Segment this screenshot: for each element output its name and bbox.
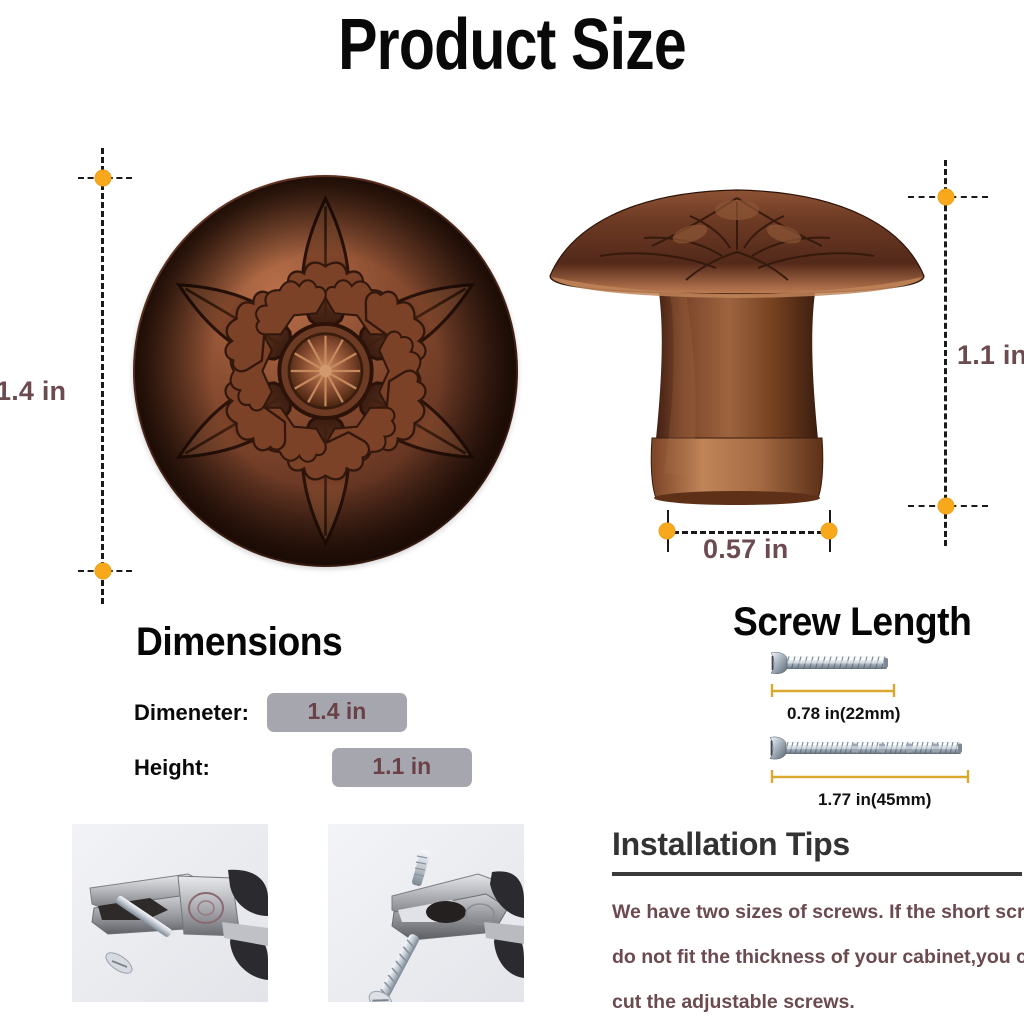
diameter-dimension-label: 1.4 in: [0, 376, 66, 407]
dimensions-row-height-label: Height:: [134, 755, 210, 781]
long-screw-bracket: [770, 769, 976, 785]
height-dimension-label: 1.1 in: [957, 340, 1024, 371]
diameter-top-dot: [95, 170, 111, 186]
height-dimension-line: [944, 160, 947, 546]
installation-tips-line-3: cut the adjustable screws.: [612, 980, 1024, 1025]
diameter-dimension-line: [101, 148, 104, 604]
dimensions-row-height: Height: 1.1 in: [134, 748, 472, 787]
pliers-holding-screw-photo: [72, 824, 268, 1002]
installation-tips-body: We have two sizes of screws. If the shor…: [612, 890, 1024, 1025]
knob-top-view: [133, 175, 518, 567]
base-dimension-label: 0.57 in: [703, 534, 788, 565]
installation-tips-line-2: do not fit the thickness of your cabinet…: [612, 935, 1024, 980]
short-screw-caption: 0.78 in(22mm): [787, 704, 900, 724]
dimensions-row-diameter: Dimeneter: 1.4 in: [134, 693, 407, 732]
base-right-dot: [821, 523, 837, 539]
height-bottom-dot: [938, 498, 954, 514]
base-left-dot: [659, 523, 675, 539]
dimensions-row-height-value: 1.1 in: [332, 748, 472, 787]
short-screw-bracket: [770, 683, 902, 699]
screw-length-heading: Screw Length: [733, 600, 971, 645]
page-title: Product Size: [92, 0, 932, 92]
dimensions-row-diameter-value: 1.4 in: [267, 693, 407, 732]
dimensions-row-diameter-label: Dimeneter:: [134, 700, 249, 726]
short-screw: [768, 650, 900, 676]
installation-tips-heading: Installation Tips: [612, 826, 850, 863]
pliers-with-cut-screw-photo: [328, 824, 524, 1002]
knob-side-view: [540, 176, 935, 521]
long-screw-caption: 1.77 in(45mm): [818, 790, 931, 810]
installation-tips-line-1: We have two sizes of screws. If the shor…: [612, 890, 1024, 935]
dimensions-heading: Dimensions: [136, 620, 342, 665]
installation-tips-divider: [612, 872, 1022, 876]
long-adjustable-screw: [768, 735, 968, 761]
diameter-bottom-dot: [95, 563, 111, 579]
infographic-canvas: Product Size 1.4 in: [0, 0, 1024, 1002]
height-top-dot: [938, 189, 954, 205]
